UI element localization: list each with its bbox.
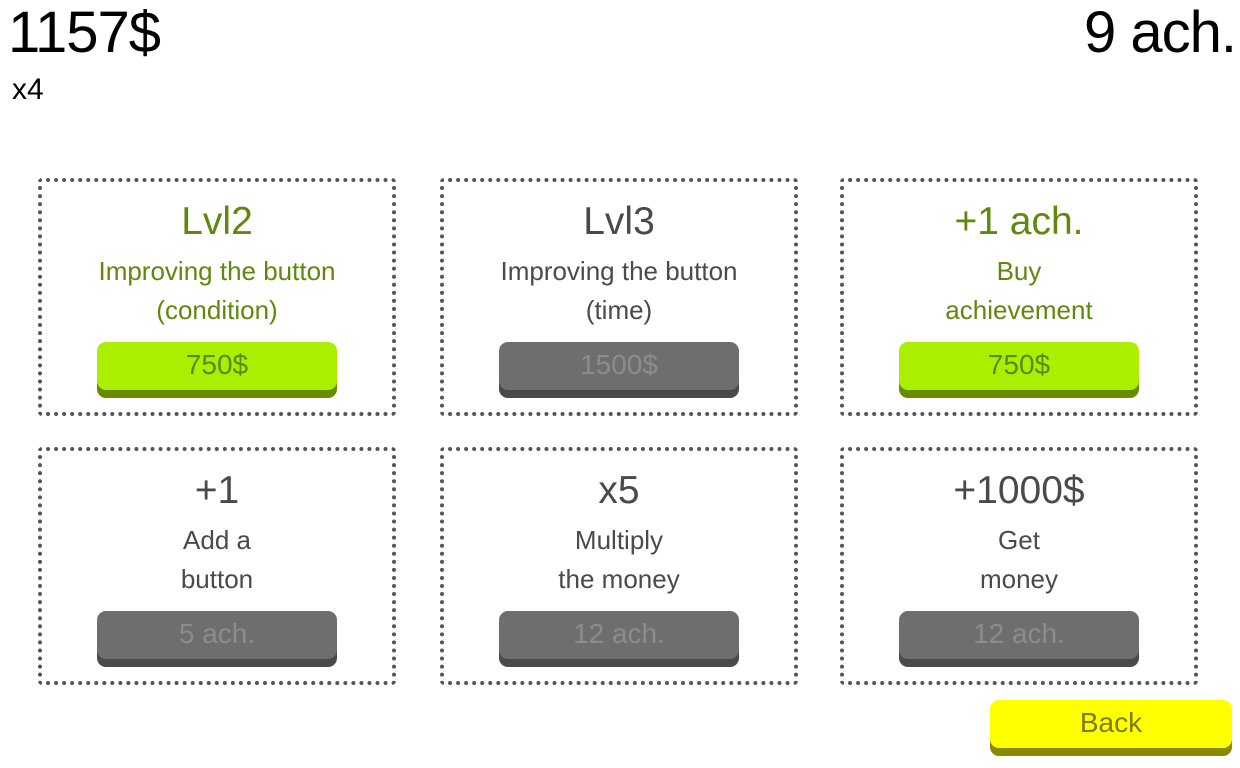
upgrade-card-buy-achievement[interactable]: +1 ach. Buy achievement 750$ [840, 178, 1198, 416]
upgrade-card-multiply-money[interactable]: x5 Multiply the money 12 ach. [440, 447, 798, 685]
buy-button-disabled: 12 ach. [899, 611, 1139, 659]
card-title: Lvl3 [444, 200, 794, 244]
card-description-line: the money [444, 560, 794, 599]
card-description-line: button [42, 560, 392, 599]
card-description-line: Improving the button [42, 252, 392, 291]
buy-button[interactable]: 750$ [97, 342, 337, 390]
card-description-line: Add a [42, 521, 392, 560]
card-title: Lvl2 [42, 200, 392, 244]
card-description-line: Multiply [444, 521, 794, 560]
buy-button[interactable]: 750$ [899, 342, 1139, 390]
buy-button-disabled: 12 ach. [499, 611, 739, 659]
card-title: +1 [42, 469, 392, 513]
upgrade-card-lvl3[interactable]: Lvl3 Improving the button (time) 1500$ [440, 178, 798, 416]
upgrade-card-lvl2[interactable]: Lvl2 Improving the button (condition) 75… [38, 178, 396, 416]
card-description-line: Buy [844, 252, 1194, 291]
card-title: +1 ach. [844, 200, 1194, 244]
card-description: Improving the button (condition) [42, 252, 392, 330]
buy-button-disabled: 1500$ [499, 342, 739, 390]
card-description-line: Improving the button [444, 252, 794, 291]
card-title: x5 [444, 469, 794, 513]
card-description: Add a button [42, 521, 392, 599]
card-description-line: Get [844, 521, 1194, 560]
card-description-line: (condition) [42, 291, 392, 330]
card-description-line: achievement [844, 291, 1194, 330]
card-description: Multiply the money [444, 521, 794, 599]
buy-button-disabled: 5 ach. [97, 611, 337, 659]
upgrade-card-get-money[interactable]: +1000$ Get money 12 ach. [840, 447, 1198, 685]
card-description: Buy achievement [844, 252, 1194, 330]
card-description: Get money [844, 521, 1194, 599]
upgrade-card-add-button[interactable]: +1 Add a button 5 ach. [38, 447, 396, 685]
card-description: Improving the button (time) [444, 252, 794, 330]
card-description-line: (time) [444, 291, 794, 330]
card-description-line: money [844, 560, 1194, 599]
back-button[interactable]: Back [990, 700, 1232, 748]
card-title: +1000$ [844, 469, 1194, 513]
upgrade-card-grid: Lvl2 Improving the button (condition) 75… [0, 0, 1240, 768]
